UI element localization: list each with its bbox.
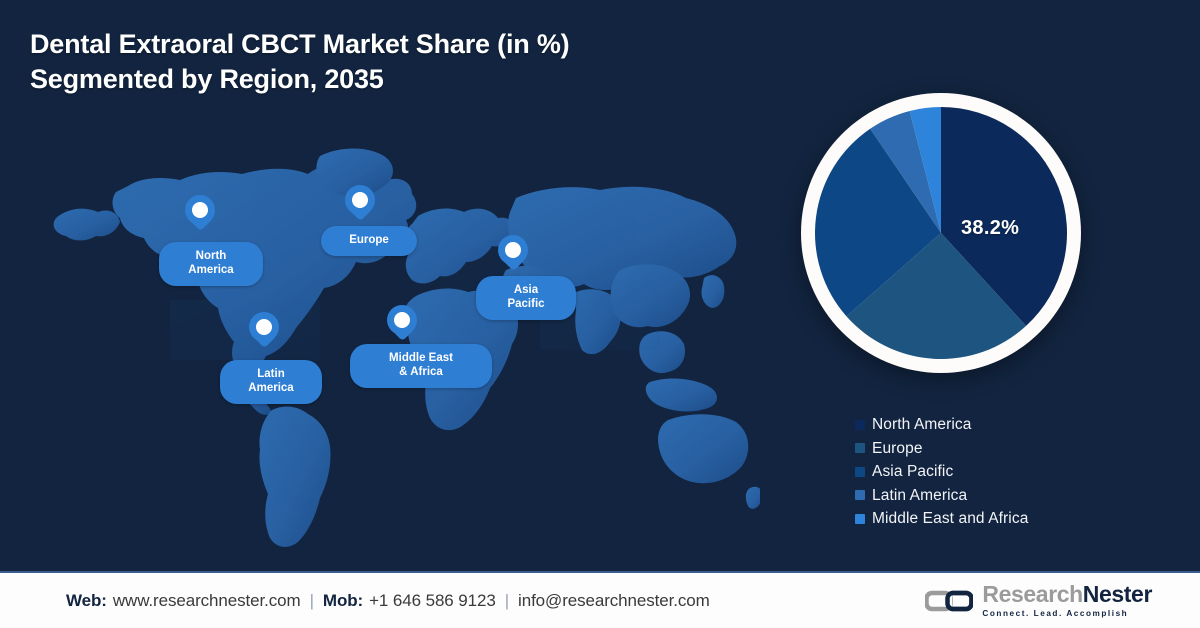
map-label-europe[interactable]: Europe	[321, 226, 417, 256]
legend-swatch-middle-east-africa	[855, 514, 865, 524]
footer-contact: Web: www.researchnester.com | Mob: +1 64…	[66, 573, 710, 628]
legend-label-asia-pacific: Asia Pacific	[872, 464, 953, 480]
logo-name-research: Research	[982, 581, 1082, 607]
logo-name: ResearchNester	[982, 583, 1152, 606]
legend-swatch-europe	[855, 443, 865, 453]
footer-separator-1: |	[310, 591, 314, 611]
pie-legend: North America Europe Asia Pacific Latin …	[855, 413, 1155, 531]
logo-name-nester: Nester	[1083, 581, 1152, 607]
legend-label-north-america: North America	[872, 417, 972, 433]
map-pin-latin-america[interactable]	[249, 312, 279, 354]
legend-item-latin-america[interactable]: Latin America	[855, 484, 1155, 508]
map-pin-asia-pacific[interactable]	[498, 235, 528, 277]
legend-label-middle-east-africa: Middle East and Africa	[872, 511, 1028, 527]
map-label-latin-america[interactable]: Latin America	[220, 360, 322, 404]
pin-dot-icon	[192, 202, 208, 218]
legend-swatch-asia-pacific	[855, 467, 865, 477]
page-title-line-2: Segmented by Region, 2035	[30, 62, 790, 97]
legend-item-north-america[interactable]: North America	[855, 413, 1155, 437]
footer-bar: Web: www.researchnester.com | Mob: +1 64…	[0, 571, 1200, 628]
logo-wordmark: ResearchNester Connect. Lead. Accomplish	[982, 583, 1152, 618]
footer-email[interactable]: info@researchnester.com	[518, 591, 710, 611]
logo-tagline: Connect. Lead. Accomplish	[982, 609, 1152, 618]
legend-swatch-latin-america	[855, 490, 865, 500]
pie-slices	[815, 107, 1067, 359]
page-title: Dental Extraoral CBCT Market Share (in %…	[30, 27, 790, 96]
research-nester-logo[interactable]: ResearchNester Connect. Lead. Accomplish	[925, 573, 1152, 628]
legend-item-asia-pacific[interactable]: Asia Pacific	[855, 460, 1155, 484]
map-label-north-america[interactable]: North America	[159, 242, 263, 286]
page-title-line-1: Dental Extraoral CBCT Market Share (in %…	[30, 27, 790, 62]
legend-label-europe: Europe	[872, 441, 923, 457]
pie-value-label: 38.2%	[961, 217, 1019, 240]
world-map: North America Europe Asia Pacific Latin …	[20, 120, 760, 550]
map-label-asia-pacific[interactable]: Asia Pacific	[476, 276, 576, 320]
link-chain-icon	[925, 587, 973, 615]
pin-dot-icon	[256, 319, 272, 335]
map-pin-middle-east-africa[interactable]	[387, 305, 417, 347]
footer-mob-label: Mob:	[323, 591, 363, 611]
infographic-canvas: Dental Extraoral CBCT Market Share (in %…	[0, 0, 1200, 628]
footer-web-value[interactable]: www.researchnester.com	[113, 591, 301, 611]
pin-dot-icon	[505, 242, 521, 258]
map-pin-north-america[interactable]	[185, 195, 215, 237]
pin-dot-icon	[352, 192, 368, 208]
map-pin-europe[interactable]	[345, 185, 375, 227]
legend-label-latin-america: Latin America	[872, 488, 967, 504]
legend-item-europe[interactable]: Europe	[855, 437, 1155, 461]
legend-swatch-north-america	[855, 420, 865, 430]
pin-dot-icon	[394, 312, 410, 328]
map-label-middle-east-africa[interactable]: Middle East & Africa	[350, 344, 492, 388]
pie-chart: 38.2%	[801, 93, 1081, 373]
legend-item-middle-east-africa[interactable]: Middle East and Africa	[855, 507, 1155, 531]
footer-mob-value[interactable]: +1 646 586 9123	[369, 591, 496, 611]
footer-separator-2: |	[505, 591, 509, 611]
footer-web-label: Web:	[66, 591, 107, 611]
